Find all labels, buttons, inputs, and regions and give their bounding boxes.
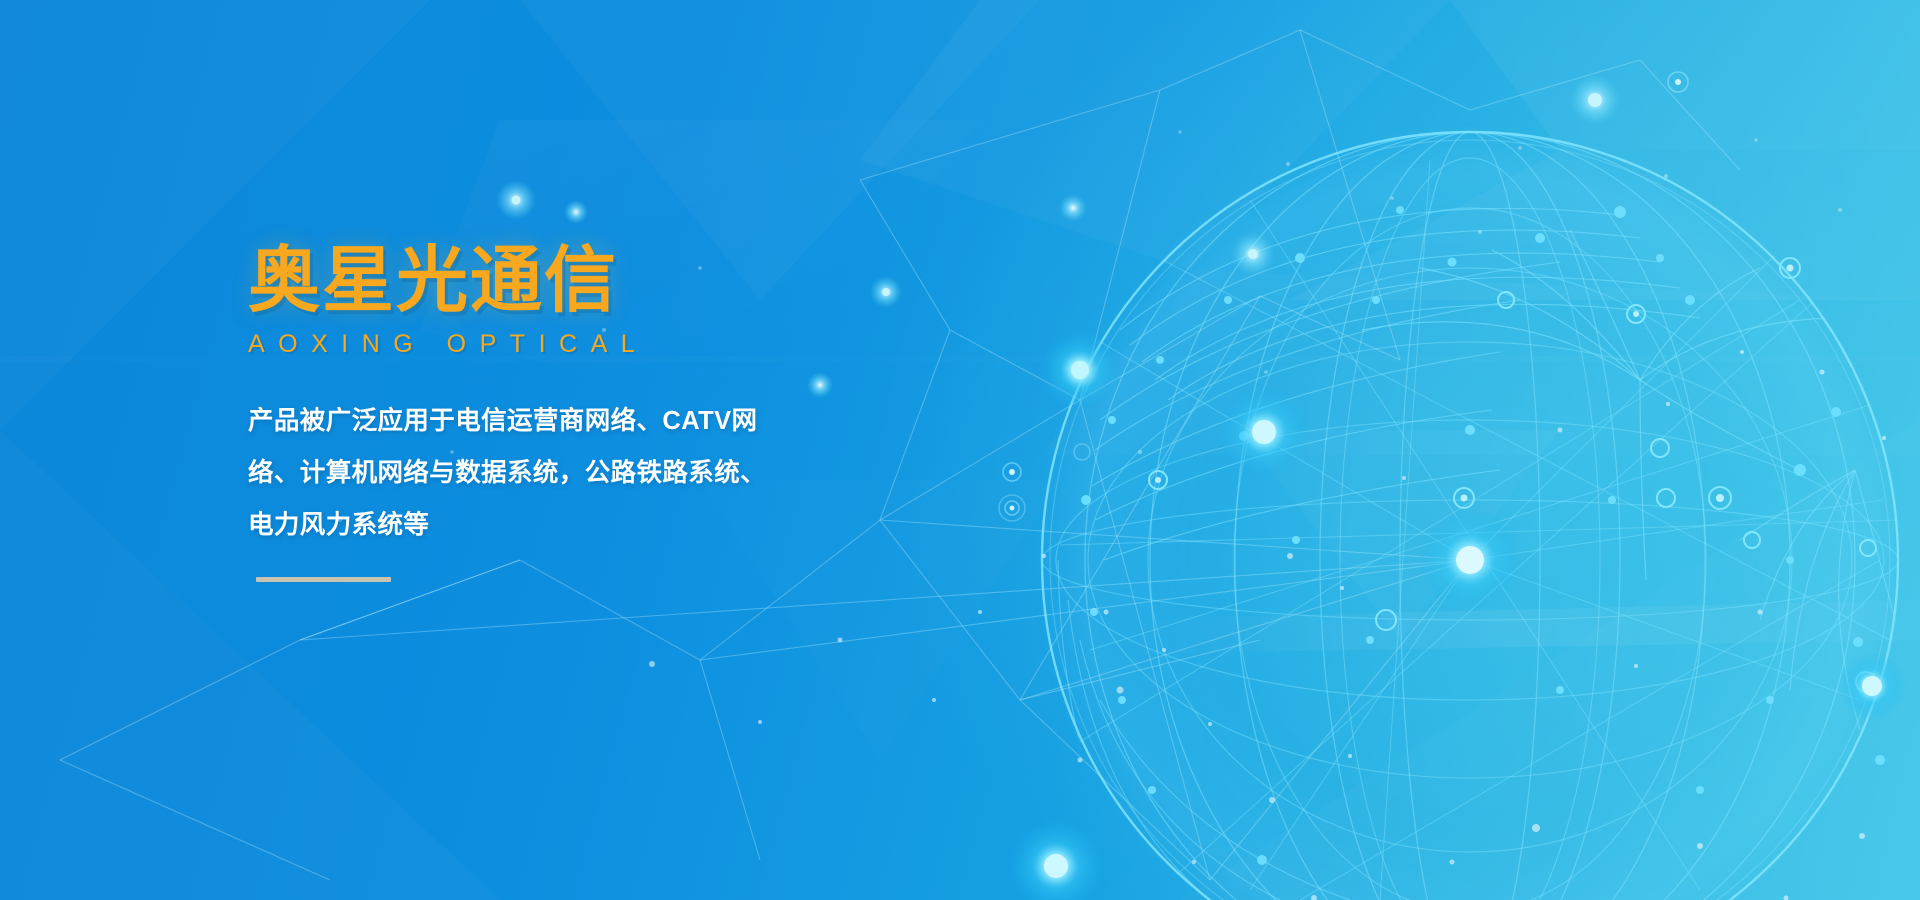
hero-text-block: 奥星光通信 AOXING OPTICAL 产品被广泛应用于电信运营商网络、CAT…	[248, 244, 948, 582]
description-line-3: 电力风力系统等	[248, 499, 778, 551]
page-title: 奥星光通信	[248, 244, 948, 319]
brand-subtitle-en: AOXING OPTICAL	[248, 330, 948, 359]
hero-banner: 奥星光通信 AOXING OPTICAL 产品被广泛应用于电信运营商网络、CAT…	[0, 0, 1920, 900]
accent-divider	[256, 577, 391, 582]
description-line-1: 产品被广泛应用于电信运营商网络、CATV网	[248, 395, 778, 447]
description-line-2: 络、计算机网络与数据系统，公路铁路系统、	[248, 447, 778, 499]
hero-description: 产品被广泛应用于电信运营商网络、CATV网 络、计算机网络与数据系统，公路铁路系…	[248, 395, 778, 551]
